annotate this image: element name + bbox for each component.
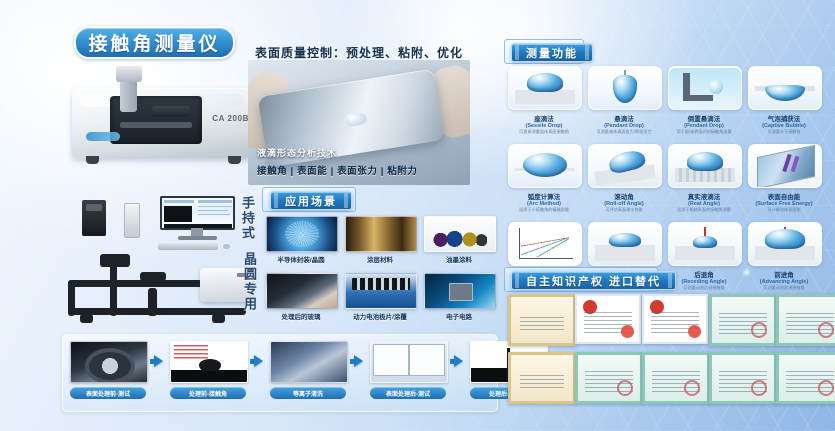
function-name-en: (Pendant Drop): [668, 123, 740, 129]
instrument-dispenser-head: [116, 66, 142, 82]
ink-icon: [424, 216, 496, 252]
droplet-analysis-caption: 液滴形态分析技术: [257, 146, 337, 159]
page-title: 接触角测量仪: [74, 26, 235, 59]
process-flow-strip: 表面处理前-测试 处理前-接触角 等离子清洗 表面处理后-测试 处理后-接触角: [62, 334, 498, 412]
function-note: 用于固/液界面间的接触角测量: [671, 129, 737, 135]
coating-icon: [345, 216, 417, 252]
function-name-cn: 气泡捕获法: [748, 113, 820, 123]
application-scenarios-badge: 应用场景: [270, 191, 352, 210]
keyboard: [158, 243, 218, 250]
mouse: [223, 244, 230, 249]
glass-icon: [266, 273, 338, 309]
app-label: 半导体封装/晶圆: [266, 254, 336, 264]
function-label: 滚动角 (Roll-off Angle) 可评估表面疏水性能: [588, 191, 660, 213]
receding-angle-icon: [668, 222, 742, 266]
surface-energy-icon: [748, 144, 822, 188]
function-note: 可直接测量固体表面接触角: [511, 129, 577, 135]
app-card[interactable]: 涂层材料: [345, 216, 415, 264]
measurement-functions-section: 测量功能 座滴法 (Sessile Drop) 可直接测量固体表面接触角: [508, 42, 828, 264]
application-grid: 半导体封装/晶圆 涂层材料 油墨涂料 处理后的玻璃 动力电池极片/涂覆 电子电路: [266, 216, 494, 321]
function-name-cn: 表面自由能: [748, 191, 820, 201]
function-card[interactable]: 气泡捕获法 (Captive Bubble) 可测量水下接触角: [748, 66, 820, 135]
certificate-item[interactable]: [575, 294, 641, 344]
certificates-badge: 自主知识产权 进口替代: [511, 271, 676, 290]
function-label: 弧度计算法 (Arc Method) 适用于小接触角的精确测量: [508, 191, 580, 213]
function-name-en: (Captive Bubble): [748, 123, 820, 129]
wafer-icon: [266, 216, 338, 252]
function-note: 适用于小接触角的精确测量: [511, 207, 577, 213]
certificate-item[interactable]: [642, 294, 708, 344]
function-name-en: (Real Angle): [668, 201, 740, 207]
flow-arrow-icon: [250, 341, 266, 381]
flow-arrow-icon: [450, 341, 466, 381]
flow-step[interactable]: 表面处理后-测试: [370, 341, 446, 399]
function-card[interactable]: 弧度计算法 (Arc Method) 适用于小接触角的精确测量: [508, 144, 580, 213]
captive-bubble-icon: [748, 66, 822, 110]
certificates-section: 自主知识产权 进口替代: [508, 270, 828, 410]
function-name-cn: 真实液滴法: [668, 191, 740, 201]
certificates-grid: [508, 294, 835, 404]
certificate-item[interactable]: [575, 352, 643, 404]
sessile-drop-icon: [508, 66, 582, 110]
function-name-en: (Surface Free Energy): [748, 201, 820, 207]
advancing-angle-icon: [748, 222, 822, 266]
process-flow-row: 表面处理前-测试 处理前-接触角 等离子清洗 表面处理后-测试 处理后-接触角: [70, 341, 546, 399]
wetting-envelope-icon: [588, 222, 662, 266]
battery-icon: [345, 273, 417, 309]
surface-quality-title: 表面质量控制：预处理、粘附、优化: [248, 44, 470, 61]
function-label: 气泡捕获法 (Captive Bubble) 可测量水下接触角: [748, 113, 820, 135]
pendant-drop-icon: [588, 66, 662, 110]
function-card[interactable]: 滚动角 (Roll-off Angle) 可评估表面疏水性能: [588, 144, 660, 213]
function-card[interactable]: 座滴法 (Sessile Drop) 可直接测量固体表面接触角: [508, 66, 580, 135]
handheld-label: 手持式: [238, 196, 257, 241]
flow-step[interactable]: 处理前-接触角: [170, 341, 246, 399]
app-card[interactable]: 电子电路: [424, 273, 494, 321]
flow-arrow-icon: [350, 341, 366, 381]
wafer-stage-instrument: [62, 250, 262, 328]
function-note: 可评估表面疏水性能: [591, 207, 657, 213]
function-note: 可测量液体表面张力/界面张力: [591, 129, 657, 135]
measurement-parameters-caption: 接触角 | 表面能 | 表面张力 | 粘附力: [257, 163, 418, 177]
arc-method-icon: [508, 144, 582, 188]
function-label: 真实液滴法 (Real Angle) 适用于粗糙表面的接触角测量: [668, 191, 740, 213]
instrument-camera-lens: [152, 106, 190, 117]
controller-module: [124, 203, 140, 238]
flow-step-label: 等离子清洗: [270, 387, 346, 399]
instrument-foot: [228, 156, 241, 164]
certificate-item[interactable]: [709, 294, 777, 346]
app-label: 油墨涂料: [424, 254, 494, 264]
function-label: 倒置悬滴法 (Pendant Drop) 用于固/液界面间的接触角测量: [668, 113, 740, 135]
app-card[interactable]: 处理后的玻璃: [266, 273, 336, 321]
measurement-functions-grid: 座滴法 (Sessile Drop) 可直接测量固体表面接触角 悬滴法 (Pen…: [508, 66, 820, 291]
flow-step-label: 表面处理前-测试: [70, 387, 146, 399]
instrument-stage: [120, 122, 192, 128]
poster-canvas: 接触角测量仪 CA 200B 手持式: [0, 0, 835, 431]
application-scenarios-section: 应用场景 半导体封装/晶圆 涂层材料 油墨涂料 处理后的玻璃 动力电池极片/涂覆: [266, 190, 494, 332]
flow-step-label: 表面处理后-测试: [370, 387, 446, 399]
function-name-cn: 座滴法: [508, 113, 580, 123]
app-label: 涂层材料: [345, 254, 415, 264]
function-name-cn: 滚动角: [588, 191, 660, 201]
sample-photo-icon: [70, 341, 148, 383]
droplet-measure-icon: [170, 341, 248, 383]
measurement-functions-badge: 测量功能: [511, 43, 593, 62]
flow-arrow-icon: [150, 341, 166, 381]
app-label: 处理后的玻璃: [266, 311, 336, 321]
function-label: 悬滴法 (Pendant Drop) 可测量液体表面张力/界面张力: [588, 113, 660, 135]
surface-quality-panel: 表面质量控制：预处理、粘附、优化 液滴形态分析技术 接触角 | 表面能 | 表面…: [248, 60, 470, 185]
function-name-cn: 悬滴法: [588, 113, 660, 123]
certificate-item[interactable]: [642, 352, 710, 404]
function-name-en: (Sessile Drop): [508, 123, 580, 129]
instrument-logo: [86, 132, 120, 141]
app-card[interactable]: 动力电池极片/涂覆: [345, 273, 415, 321]
software-window-icon: [370, 341, 448, 383]
certificate-item[interactable]: [776, 294, 835, 346]
certificate-item[interactable]: [709, 352, 777, 404]
workstation-monitor: [160, 196, 235, 242]
monitor-stand: [191, 228, 203, 236]
certificate-item[interactable]: [776, 352, 835, 404]
function-name-en: (Pendant Drop): [588, 123, 660, 129]
app-label: 动力电池极片/涂覆: [345, 311, 415, 321]
function-note: 可测量水下接触角: [751, 129, 817, 135]
instrument-foot: [86, 156, 99, 164]
function-name-cn: 倒置悬滴法: [668, 113, 740, 123]
wafer-label: 晶圆专用: [240, 252, 259, 312]
function-name-en: (Arc Method): [508, 201, 580, 207]
pcb-icon: [424, 273, 496, 309]
light-source-module: [82, 200, 106, 236]
function-name-en: (Roll-off Angle): [588, 201, 660, 207]
inverted-pendant-icon: [668, 66, 742, 110]
function-name-cn: 弧度计算法: [508, 191, 580, 201]
function-label: 座滴法 (Sessile Drop) 可直接测量固体表面接触角: [508, 113, 580, 135]
monitor-screen: [160, 196, 235, 230]
certificate-item[interactable]: [508, 352, 576, 404]
app-card[interactable]: 半导体封装/晶圆: [266, 216, 336, 264]
flow-step[interactable]: 等离子清洗: [270, 341, 346, 399]
monitor-base: [178, 236, 217, 240]
instrument-model-label: CA 200B: [212, 114, 249, 123]
function-note: 可计算固体表面能: [751, 207, 817, 213]
certificate-item[interactable]: [508, 294, 576, 346]
function-card[interactable]: 倒置悬滴法 (Pendant Drop) 用于固/液界面间的接触角测量: [668, 66, 740, 135]
function-label: 表面自由能 (Surface Free Energy) 可计算固体表面能: [748, 191, 820, 213]
real-angle-icon: [668, 144, 742, 188]
spectrogram-icon: [508, 222, 582, 266]
app-label: 电子电路: [424, 311, 494, 321]
flow-step[interactable]: 表面处理前-测试: [70, 341, 146, 399]
function-card[interactable]: 表面自由能 (Surface Free Energy) 可计算固体表面能: [748, 144, 820, 213]
app-card[interactable]: 油墨涂料: [424, 216, 494, 264]
function-note: 适用于粗糙表面的接触角测量: [671, 207, 737, 213]
hero-instrument-image: CA 200B: [60, 66, 275, 178]
flow-step-label: 处理前-接触角: [170, 387, 246, 399]
plasma-clean-icon: [270, 341, 348, 383]
rolloff-angle-icon: [588, 144, 662, 188]
function-card[interactable]: 真实液滴法 (Real Angle) 适用于粗糙表面的接触角测量: [668, 144, 740, 213]
function-card[interactable]: 悬滴法 (Pendant Drop) 可测量液体表面张力/界面张力: [588, 66, 660, 135]
